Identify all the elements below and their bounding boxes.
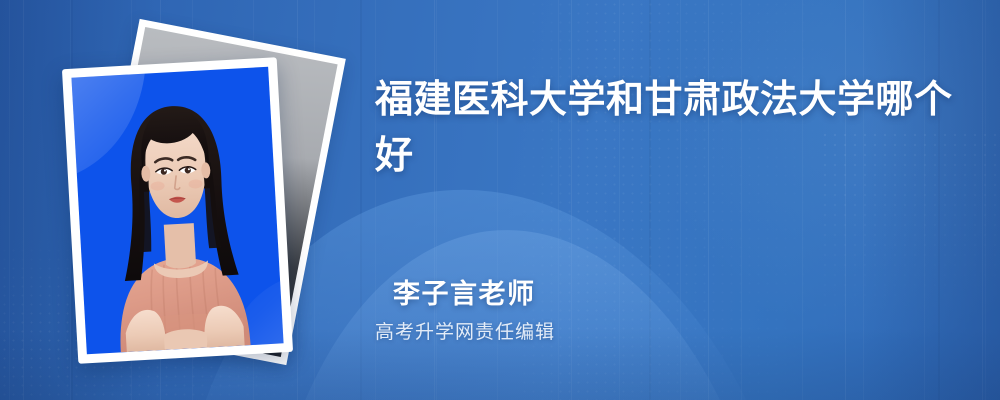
page-title: 福建医科大学和甘肃政法大学哪个好 [375,72,955,184]
portrait-photo [71,67,283,355]
cover-text-column: 福建医科大学和甘肃政法大学哪个好 李子言老师 高考升学网责任编辑 [375,0,975,400]
article-cover-banner: 福建医科大学和甘肃政法大学哪个好 李子言老师 高考升学网责任编辑 [0,0,1000,400]
author-name: 李子言老师 [393,272,536,311]
author-role: 高考升学网责任编辑 [375,317,555,344]
photo-card-front [62,57,293,364]
photo-card-stack [60,28,350,373]
editor-portrait-illustration [71,67,283,355]
